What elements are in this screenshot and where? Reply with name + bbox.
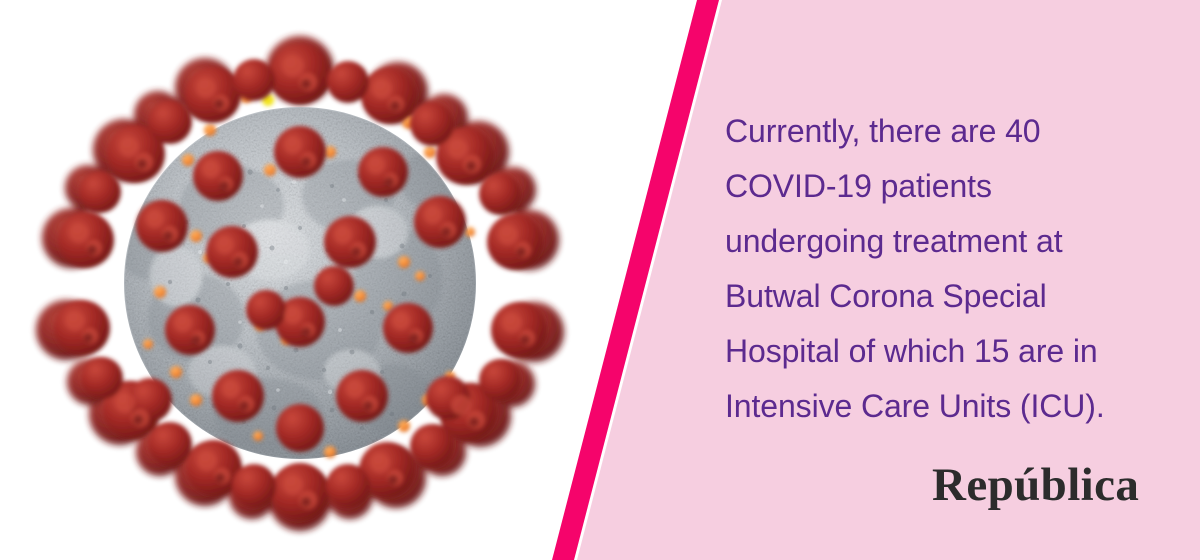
coronavirus-illustration (0, 0, 600, 560)
quote-text: Currently, there are 40 COVID-19 patient… (725, 104, 1155, 434)
quote-line-5: Hospital of which 15 are in (725, 324, 1155, 379)
quote-line-2: COVID-19 patients (725, 159, 1155, 214)
quote-line-4: Butwal Corona Special (725, 269, 1155, 324)
quote-line-1: Currently, there are 40 (725, 104, 1155, 159)
coronavirus-svg (0, 0, 600, 560)
brand-logo-republica: República (932, 462, 1139, 509)
quote-line-3: undergoing treatment at (725, 214, 1155, 269)
quote-line-6: Intensive Care Units (ICU). (725, 379, 1155, 434)
news-graphic-card: Currently, there are 40 COVID-19 patient… (0, 0, 1200, 560)
